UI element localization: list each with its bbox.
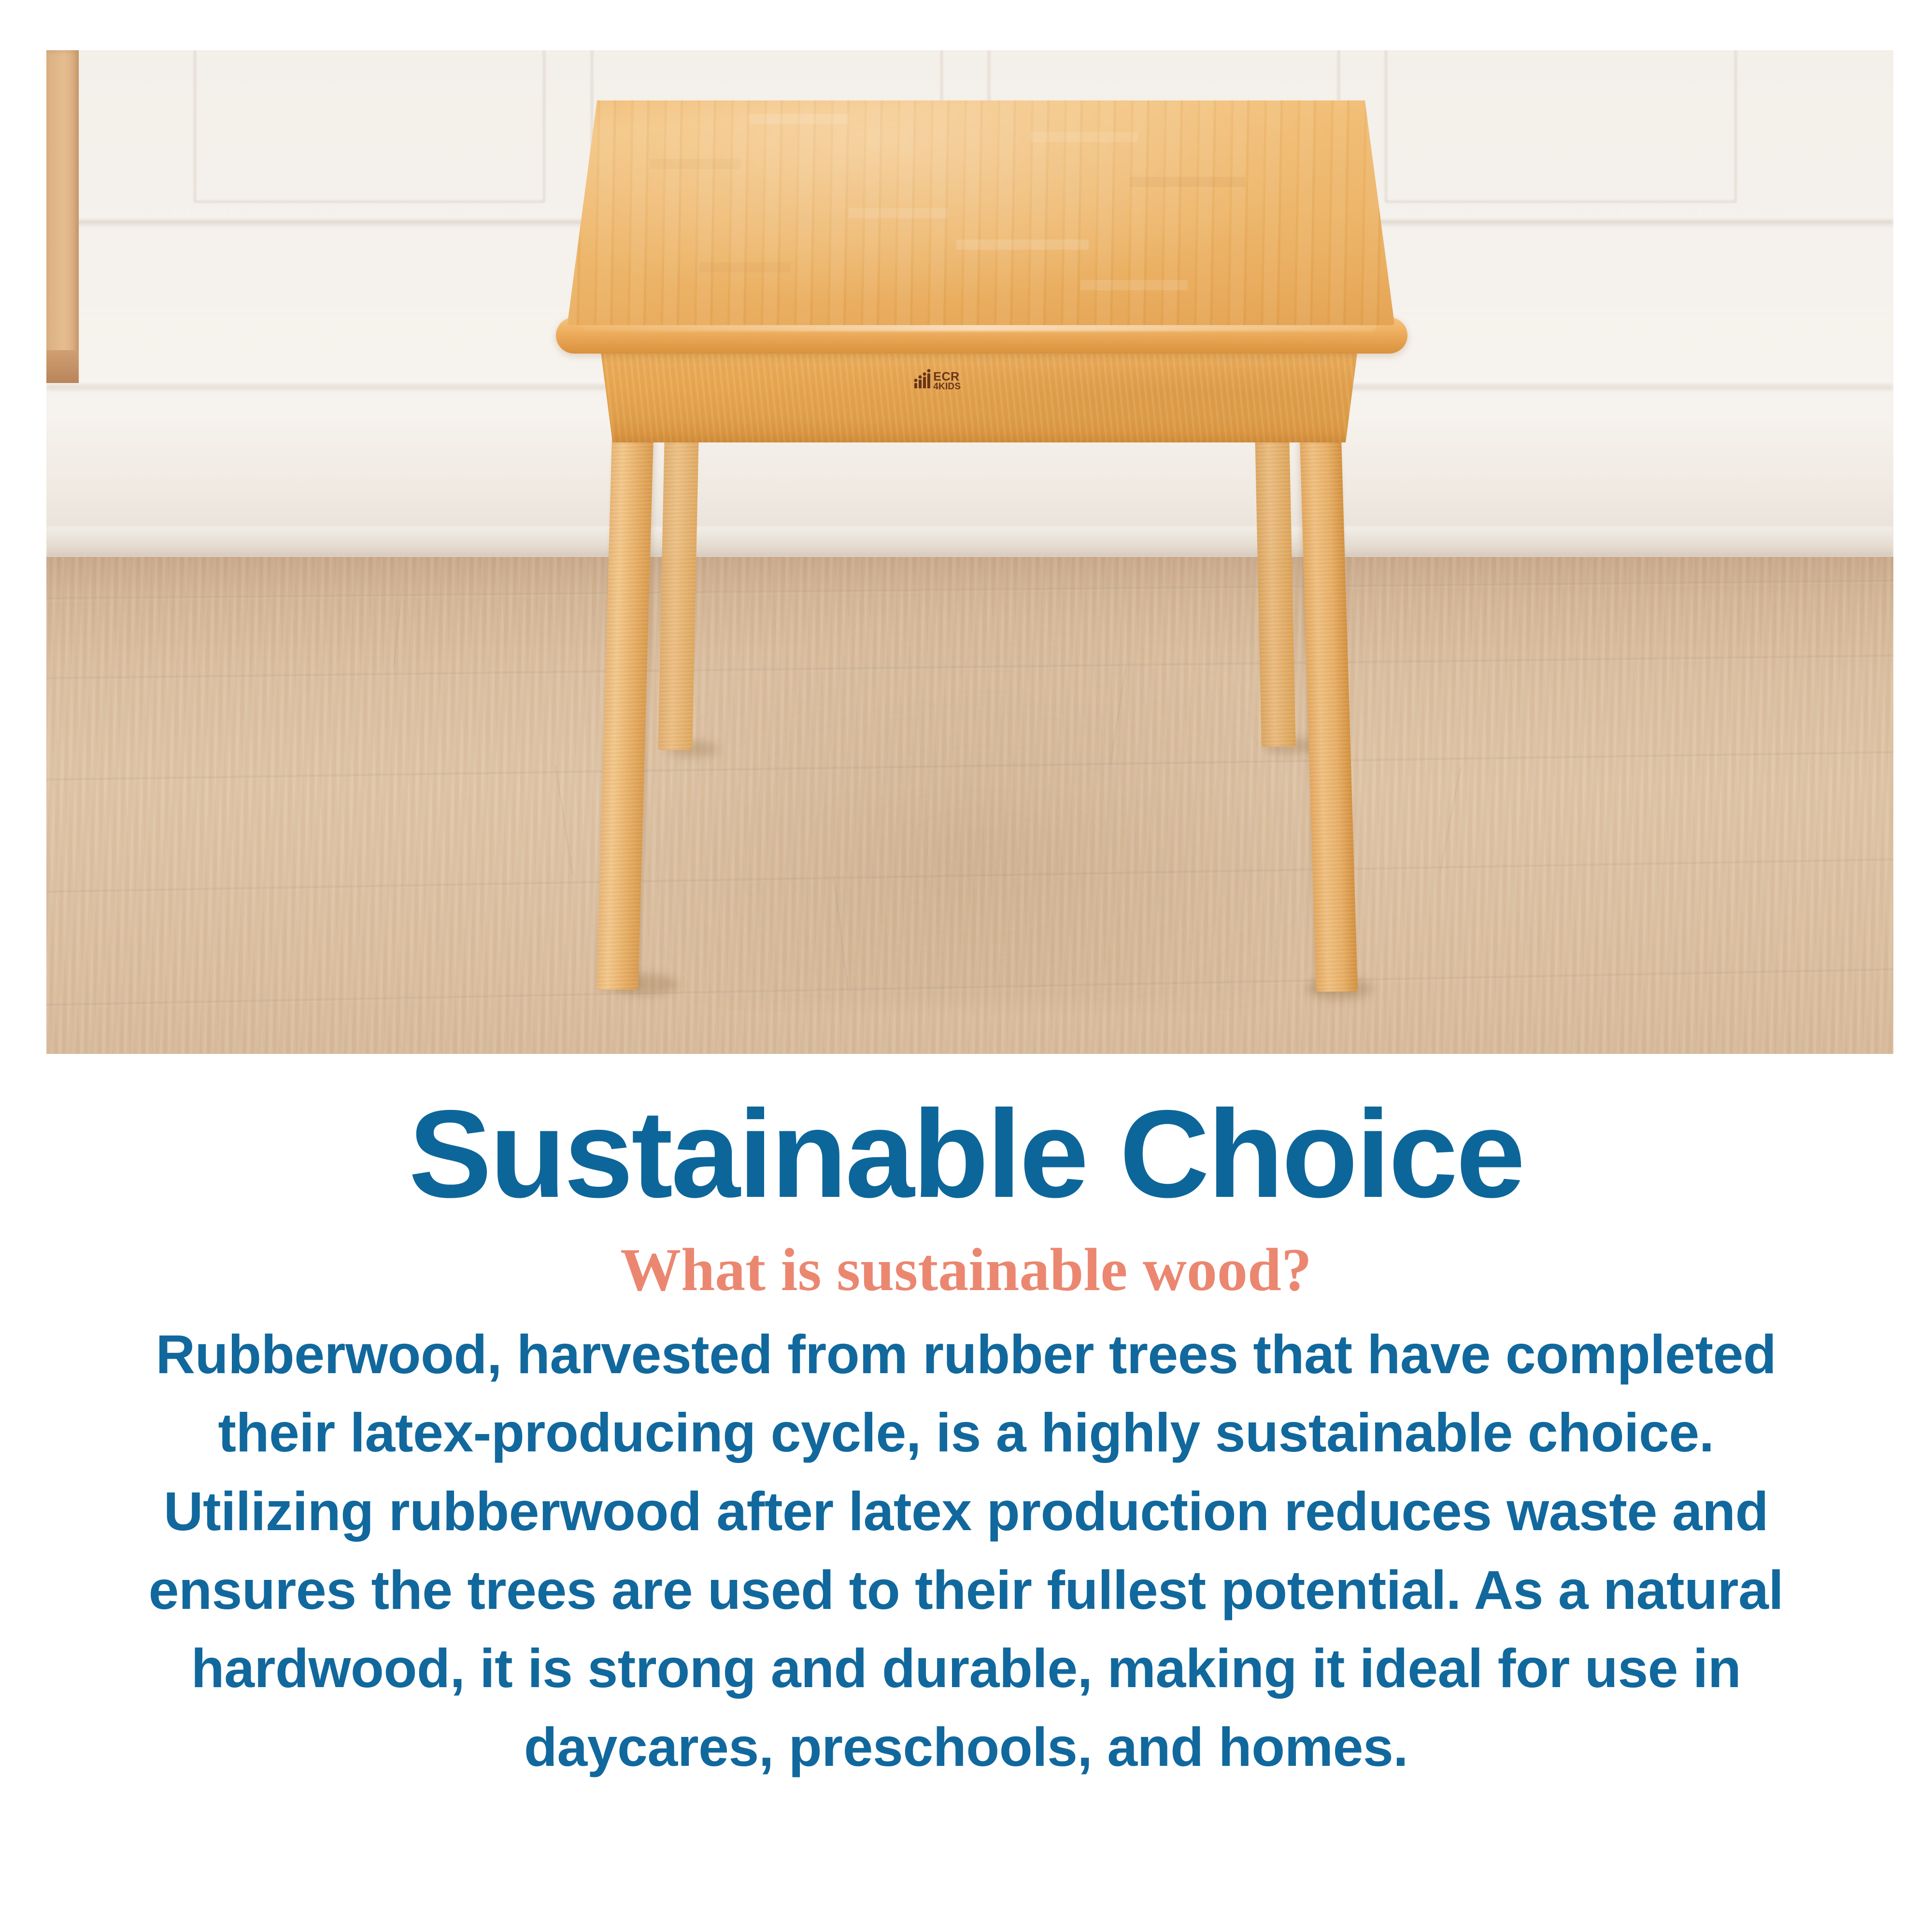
body-line: hardwood, it is strong and durable, maki… (0, 1629, 1932, 1708)
body-line: Rubberwood, harvested from rubber trees … (0, 1315, 1932, 1394)
brand-line-1: ECR (933, 371, 961, 383)
page-title: Sustainable Choice (0, 1088, 1932, 1220)
page-subtitle: What is sustainable wood? (0, 1236, 1932, 1304)
body-line: Utilizing rubberwood after latex product… (0, 1472, 1932, 1551)
product-photo: ECR 4KIDS (46, 50, 1893, 1054)
table-apron (600, 349, 1358, 442)
table-floor-shadow (582, 622, 1376, 1004)
body-paragraph: Rubberwood, harvested from rubber trees … (0, 1315, 1932, 1787)
copy-block: Sustainable Choice What is sustainable w… (0, 1088, 1932, 1787)
brand-wordmark: ECR 4KIDS (933, 371, 961, 391)
table-leg-back-right (1255, 434, 1295, 747)
brand-stamp: ECR 4KIDS (914, 371, 961, 391)
apron-grain (600, 349, 1358, 442)
wooden-activity-table: ECR 4KIDS (46, 50, 1893, 1054)
tabletop-surface (567, 100, 1394, 325)
table-leg-back-left (658, 434, 699, 750)
brand-line-2: 4KIDS (933, 383, 961, 391)
leg-grain (658, 434, 699, 750)
marketing-infographic-page: ECR 4KIDS Sustainable Choice What is sus… (0, 0, 1932, 1932)
body-line: ensures the trees are used to their full… (0, 1551, 1932, 1630)
leg-grain (1255, 434, 1295, 747)
tabletop-sheen (567, 100, 1394, 325)
body-line: daycares, preschools, and homes. (0, 1708, 1932, 1787)
body-line: their latex-producing cycle, is a highly… (0, 1393, 1932, 1472)
four-ascending-people-bars-icon (914, 374, 930, 388)
